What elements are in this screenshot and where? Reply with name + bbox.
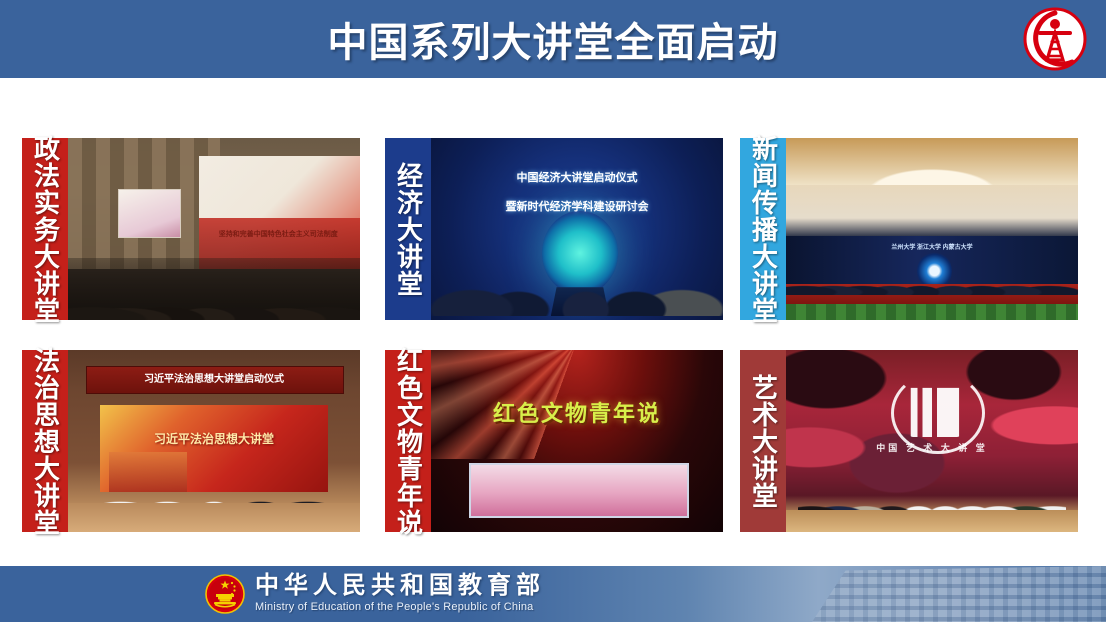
gallery-tile-zhengfa-shiwu[interactable]: 政法实务大讲堂 坚持和完善中国特色社会主义司法制度 — [22, 138, 360, 320]
tile-banner-fazhi-sixiang: 法治思想大讲堂 — [22, 350, 68, 532]
tile-banner-label: 政法实务大讲堂 — [31, 135, 58, 324]
page-title: 中国系列大讲堂全面启动 — [0, 0, 1106, 78]
tile-photo-fazhi-sixiang: 习近平法治思想大讲堂启动仪式 习近平法治思想大讲堂 — [68, 350, 360, 532]
tile-photo-jingji: 中国经济大讲堂启动仪式 暨新时代经济学科建设研讨会 — [431, 138, 723, 320]
footer-title-cn: 中华人民共和国教育部 — [255, 572, 545, 600]
gallery-tile-yishu[interactable]: 艺术大讲堂 中国 艺 术 大 讲 堂 — [740, 350, 1078, 532]
tile-banner-label: 艺术大讲堂 — [749, 374, 776, 509]
footer-title-en: Ministry of Education of the People's Re… — [255, 600, 545, 615]
photo-caption-line1: 中国经济大讲堂启动仪式 — [431, 169, 723, 185]
national-emblem-icon — [205, 574, 245, 614]
page-footer: 中华人民共和国教育部 Ministry of Education of the … — [0, 566, 1106, 622]
tile-banner-label: 经济大讲堂 — [394, 162, 421, 297]
gallery-tile-hongse-wenwu[interactable]: 红色文物青年说 红色文物青年说 — [385, 350, 723, 532]
gallery-tile-jingji[interactable]: 经济大讲堂 中国经济大讲堂启动仪式 暨新时代经济学科建设研讨会 — [385, 138, 723, 320]
tile-banner-jingji: 经济大讲堂 — [385, 138, 431, 320]
lecture-series-gallery: 政法实务大讲堂 坚持和完善中国特色社会主义司法制度 经济大讲堂 中国经济大讲堂启… — [0, 78, 1106, 556]
tile-photo-yishu: 中国 艺 术 大 讲 堂 — [786, 350, 1078, 532]
tile-photo-zhengfa-shiwu: 坚持和完善中国特色社会主义司法制度 — [68, 138, 360, 320]
tile-banner-hongse-wenwu: 红色文物青年说 — [385, 350, 431, 532]
gallery-tile-fazhi-sixiang[interactable]: 法治思想大讲堂 习近平法治思想大讲堂启动仪式 习近平法治思想大讲堂 — [22, 350, 360, 532]
tile-banner-xinwen-chuanbo: 新闻传播大讲堂 — [740, 138, 786, 320]
tile-photo-hongse-wenwu: 红色文物青年说 — [431, 350, 723, 532]
tile-banner-zhengfa-shiwu: 政法实务大讲堂 — [22, 138, 68, 320]
tile-banner-label: 法治思想大讲堂 — [31, 347, 58, 536]
china-education-tv-logo-icon — [1022, 6, 1088, 72]
tile-banner-label: 红色文物青年说 — [394, 347, 421, 536]
gallery-tile-xinwen-chuanbo[interactable]: 新闻传播大讲堂 兰州大学 浙江大学 内蒙古大学 — [740, 138, 1078, 320]
page-header: 中国系列大讲堂全面启动 — [0, 0, 1106, 78]
tile-photo-xinwen-chuanbo: 兰州大学 浙江大学 内蒙古大学 — [786, 138, 1078, 320]
tile-banner-label: 新闻传播大讲堂 — [749, 135, 776, 324]
tile-banner-yishu: 艺术大讲堂 — [740, 350, 786, 532]
